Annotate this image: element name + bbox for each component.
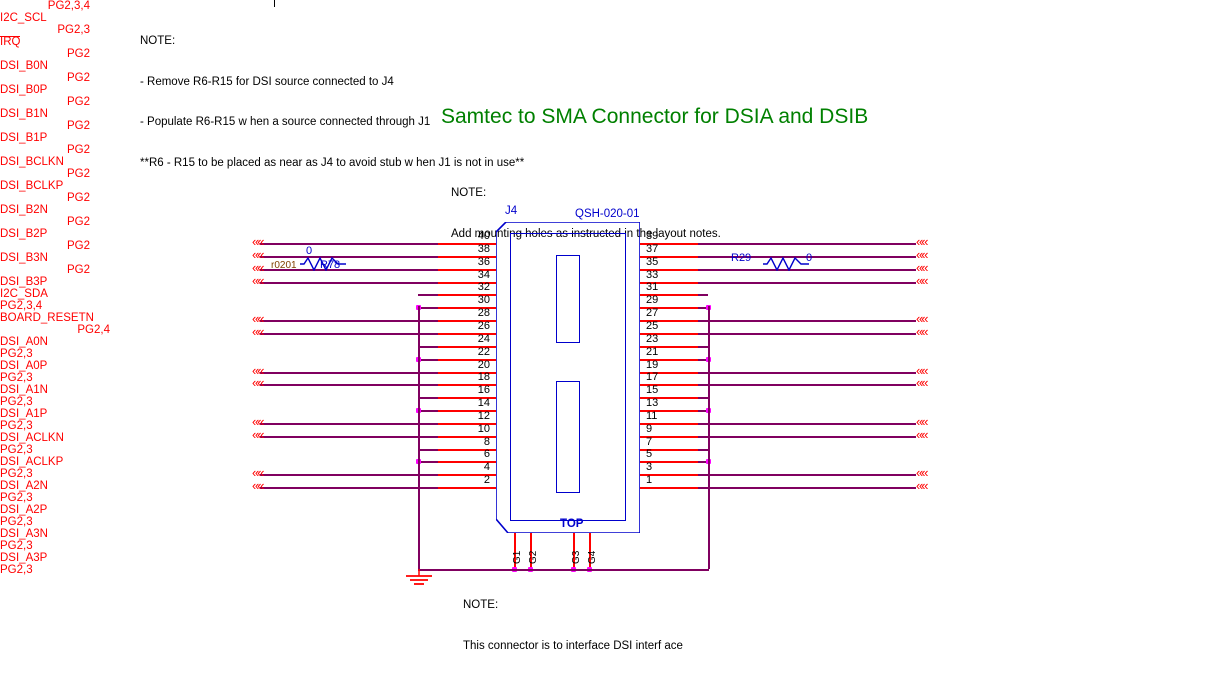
- offsheet-connector-left-DSI_B3P[interactable]: ««: [252, 479, 262, 492]
- wire-tick-right-11: [698, 384, 701, 386]
- offsheet-connector-left-DSI_BCLKP[interactable]: ««: [252, 376, 262, 389]
- connector-part-number: QSH-020-01: [575, 208, 640, 220]
- wire-tick-left-17: [434, 461, 437, 463]
- connector-refdes: J4: [505, 205, 517, 217]
- wire-tick-right-16: [698, 449, 701, 451]
- note-bottom: NOTE: This connector is to interface DSI…: [463, 572, 683, 673]
- page-ref-left-DSI_B1P: PG2: [0, 120, 90, 132]
- page-ref-left-DSI_B2N: PG2: [0, 192, 90, 204]
- wire-tick-right-12: [698, 397, 701, 399]
- pin-label-G3: G3: [571, 551, 582, 564]
- wire-tick-right-10: [698, 372, 701, 374]
- note-top-heading: NOTE:: [140, 35, 524, 49]
- wire-tick-left-15: [434, 436, 437, 438]
- pin-number-left-24: 24: [456, 334, 490, 345]
- page-ref-right-DSI_A1P: PG2,3: [0, 420, 110, 432]
- wire-left-signal-7: [260, 333, 438, 335]
- wire-right-signal-10: [698, 372, 916, 374]
- ground-bus-left: [418, 306, 420, 569]
- pin-number-right-3: 3: [646, 462, 680, 473]
- top-stub-line: [274, 0, 275, 7]
- wire-left-signal-18: [260, 474, 438, 476]
- wire-tick-right-9: [698, 359, 701, 361]
- offsheet-connector-right-DSI_A2P[interactable]: ««: [916, 428, 926, 441]
- wire-tick-left-13: [434, 410, 437, 412]
- resistor-R78-footprint: r0201: [271, 260, 297, 271]
- resistor-R78-value: 0: [306, 245, 312, 257]
- wire-tick-right-2: [698, 269, 701, 271]
- pin-number-left-32: 32: [456, 282, 490, 293]
- pin-stub-left-2: [438, 487, 496, 489]
- pin-number-right-13: 13: [646, 398, 680, 409]
- page-ref-left-DSI_B0N: PG2: [0, 48, 90, 60]
- wire-left-signal-0: [260, 243, 438, 245]
- pin-number-left-36: 36: [456, 257, 490, 268]
- pin-number-right-15: 15: [646, 385, 680, 396]
- wire-left-signal-19: [260, 487, 438, 489]
- pin-number-right-39: 39: [646, 231, 680, 242]
- pin-number-left-18: 18: [456, 372, 490, 383]
- wire-tick-left-2: [434, 269, 437, 271]
- gnd-symbol: [403, 569, 435, 593]
- wire-left-signal-6: [260, 320, 438, 322]
- resistor-R29-designator: R29: [731, 252, 751, 264]
- wire-tick-right-1: [698, 256, 701, 258]
- wire-tick-left-18: [434, 474, 437, 476]
- pin-number-left-22: 22: [456, 347, 490, 358]
- pin-number-right-25: 25: [646, 321, 680, 332]
- wire-tick-left-12: [434, 397, 437, 399]
- pin-number-right-5: 5: [646, 449, 680, 460]
- pin-number-left-8: 8: [456, 437, 490, 448]
- wire-tick-left-19: [434, 487, 437, 489]
- wire-left-signal-11: [260, 384, 438, 386]
- wire-right-signal-15: [698, 436, 916, 438]
- pin-number-right-7: 7: [646, 437, 680, 448]
- page-ref-right-I2C_SDA: PG2,3,4: [0, 300, 110, 312]
- wire-right-ground-top: [698, 294, 708, 296]
- ground-bus-bottom: [418, 569, 709, 571]
- resistor-R29-symbol: [763, 257, 809, 271]
- wire-left-ground-top: [418, 294, 438, 296]
- pin-number-left-6: 6: [456, 449, 490, 460]
- wire-tick-left-6: [434, 320, 437, 322]
- page-ref-left-DSI_BCLKP: PG2: [0, 168, 90, 180]
- wire-tick-right-8: [698, 346, 701, 348]
- wire-tick-left-5: [434, 307, 437, 309]
- wire-right-signal-0: [698, 243, 916, 245]
- wire-tick-right-15: [698, 436, 701, 438]
- offsheet-connector-left-DSI_B2P[interactable]: ««: [252, 428, 262, 441]
- note-top-line-0: - Remove R6-R15 for DSI source connected…: [140, 76, 524, 90]
- net-label-right-DSI_A3P: DSI_A3P: [0, 552, 1222, 564]
- note-bottom-line-0: This connector is to interface DSI inter…: [463, 640, 683, 654]
- pin-label-G4: G4: [587, 551, 598, 564]
- wire-tick-left-11: [434, 384, 437, 386]
- wire-tick-right-0: [698, 243, 701, 245]
- net-label-overbar: IRQ: [0, 36, 20, 48]
- connector-slot-upper: [556, 255, 580, 343]
- wire-tick-right-5: [698, 307, 701, 309]
- pin-label-G1: G1: [512, 551, 523, 564]
- connector-slot-lower: [556, 381, 580, 493]
- pin-number-left-10: 10: [456, 424, 490, 435]
- wire-tick-left-9: [434, 359, 437, 361]
- pin-number-right-23: 23: [646, 334, 680, 345]
- offsheet-connector-right-DSI_A3P[interactable]: ««: [916, 479, 926, 492]
- wire-tick-right-13: [698, 410, 701, 412]
- page-ref-left-DSI_B3P: PG2: [0, 264, 90, 276]
- connector-top-label: TOP: [560, 518, 583, 530]
- pin-number-left-20: 20: [456, 360, 490, 371]
- pin-label-G2: G2: [528, 551, 539, 564]
- pin-number-left-40: 40: [456, 231, 490, 242]
- wire-tick-left-7: [434, 333, 437, 335]
- pin-number-right-17: 17: [646, 372, 680, 383]
- wire-tick-left-8: [434, 346, 437, 348]
- note-middle-heading: NOTE:: [451, 187, 721, 201]
- offsheet-connector-right-DSI_A1P[interactable]: ««: [916, 325, 926, 338]
- page-ref-right-DSI_A2N: PG2,3: [0, 492, 110, 504]
- wire-tick-right-6: [698, 320, 701, 322]
- page-ref-left-IRQ: PG2,3: [0, 24, 90, 36]
- page-ref-left-I2C_SCL: PG2,3,4: [0, 0, 90, 12]
- wire-left-signal-3: [260, 282, 438, 284]
- wire-right-signal-3: [698, 282, 916, 284]
- offsheet-connector-right-DSI_A0P[interactable]: ««: [916, 274, 926, 287]
- wire-tick-right-14: [698, 423, 701, 425]
- wire-left-signal-1: [260, 256, 438, 258]
- resistor-R78-designator: R78: [320, 259, 340, 271]
- pin-number-right-11: 11: [646, 411, 680, 422]
- pin-number-right-37: 37: [646, 244, 680, 255]
- pin-number-left-16: 16: [456, 385, 490, 396]
- wire-tick-left-3: [434, 282, 437, 284]
- wire-left-signal-15: [260, 436, 438, 438]
- pin-number-left-38: 38: [456, 244, 490, 255]
- page-ref-right-DSI_A2P: PG2,3: [0, 516, 110, 528]
- wire-left-signal-10: [260, 372, 438, 374]
- wire-right-signal-7: [698, 333, 916, 335]
- page-ref-right-DSI_ACLKN: PG2,3: [0, 444, 110, 456]
- wire-tick-left-0: [434, 243, 437, 245]
- note-bottom-heading: NOTE:: [463, 599, 683, 613]
- wire-tick-left-10: [434, 372, 437, 374]
- wire-right-signal-6: [698, 320, 916, 322]
- pin-number-left-4: 4: [456, 462, 490, 473]
- page-ref-right-DSI_A0P: PG2,3: [0, 372, 110, 384]
- wire-tick-left-16: [434, 449, 437, 451]
- offsheet-connector-right-DSI_ACLKP[interactable]: ««: [916, 376, 926, 389]
- wire-tick-right-17: [698, 461, 701, 463]
- schematic-sheet: NOTE: - Remove R6-R15 for DSI source con…: [0, 0, 1222, 673]
- page-ref-right-DSI_A3P: PG2,3: [0, 564, 110, 576]
- offsheet-connector-left-DSI_B0P[interactable]: ««: [252, 274, 262, 287]
- page-ref-right-BOARD_RESETN: PG2,4: [0, 324, 110, 336]
- wire-tick-right-7: [698, 333, 701, 335]
- wire-right-signal-19: [698, 487, 916, 489]
- pin-number-right-19: 19: [646, 360, 680, 371]
- pin-number-left-12: 12: [456, 411, 490, 422]
- wire-tick-right-18: [698, 474, 701, 476]
- pin-stub-right-1: [640, 487, 698, 489]
- pin-number-left-14: 14: [456, 398, 490, 409]
- page-ref-left-DSI_B0P: PG2: [0, 72, 90, 84]
- wire-left-signal-14: [260, 423, 438, 425]
- page-ref-left-DSI_B2P: PG2: [0, 216, 90, 228]
- pin-number-right-9: 9: [646, 424, 680, 435]
- page-ref-left-DSI_BCLKN: PG2: [0, 144, 90, 156]
- wire-right-signal-18: [698, 474, 916, 476]
- wire-tick-right-3: [698, 282, 701, 284]
- page-ref-left-DSI_B1N: PG2: [0, 96, 90, 108]
- page-ref-left-DSI_B3N: PG2: [0, 240, 90, 252]
- page-ref-right-DSI_ACLKP: PG2,3: [0, 468, 110, 480]
- page-title: Samtec to SMA Connector for DSIA and DSI…: [441, 105, 868, 129]
- pin-number-left-2: 2: [456, 475, 490, 486]
- page-ref-right-DSI_A3N: PG2,3: [0, 540, 110, 552]
- pin-number-left-28: 28: [456, 308, 490, 319]
- resistor-R29-value: 0: [806, 252, 812, 264]
- pin-number-right-35: 35: [646, 257, 680, 268]
- pin-number-right-1: 1: [646, 475, 680, 486]
- offsheet-connector-left-DSI_B1P[interactable]: ««: [252, 325, 262, 338]
- pin-number-right-31: 31: [646, 282, 680, 293]
- pin-number-left-34: 34: [456, 270, 490, 281]
- page-ref-right-DSI_A0N: PG2,3: [0, 348, 110, 360]
- pin-number-left-26: 26: [456, 321, 490, 332]
- wire-right-signal-11: [698, 384, 916, 386]
- ground-bus-right: [708, 306, 710, 569]
- wire-right-signal-14: [698, 423, 916, 425]
- pin-number-left-30: 30: [456, 295, 490, 306]
- wire-tick-left-1: [434, 256, 437, 258]
- page-ref-right-DSI_A1N: PG2,3: [0, 396, 110, 408]
- wire-tick-left-14: [434, 423, 437, 425]
- pin-number-right-21: 21: [646, 347, 680, 358]
- pin-number-right-27: 27: [646, 308, 680, 319]
- wire-tick-right-19: [698, 487, 701, 489]
- pin-number-right-29: 29: [646, 295, 680, 306]
- pin-number-right-33: 33: [646, 270, 680, 281]
